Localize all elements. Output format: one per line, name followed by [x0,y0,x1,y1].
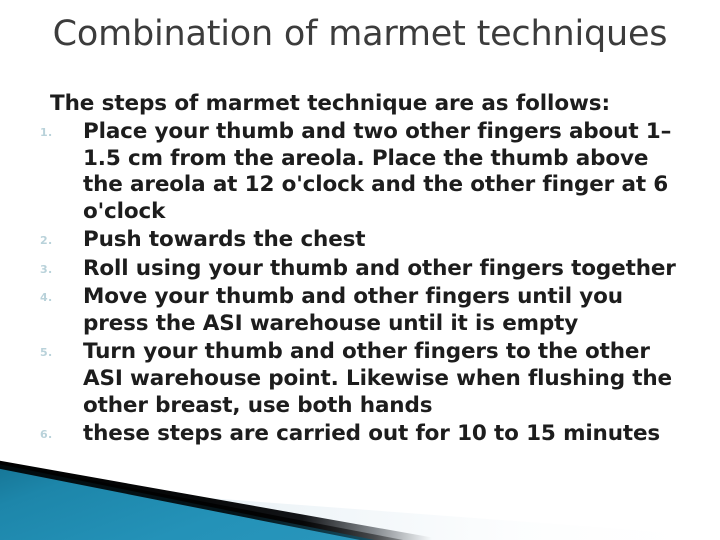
intro-line: The steps of marmet technique are as fol… [0,90,720,117]
list-item-label: these steps are carried out for 10 to 15… [83,421,690,448]
decoration-dark-band-shape [0,450,720,540]
list-item-label: Roll using your thumb and other fingers … [83,256,690,283]
list-item: 6. these steps are carried out for 10 to… [0,421,720,448]
slide: Combination of marmet techniques The ste… [0,0,720,540]
list-item-marker: 3. [40,263,66,277]
list-item-label: Turn your thumb and other fingers to the… [83,339,690,419]
slide-body: The steps of marmet technique are as fol… [0,90,720,450]
list-item: 1. Place your thumb and two other finger… [0,119,720,225]
list-item: 4. Move your thumb and other fingers unt… [0,284,720,337]
decoration-edge-line-shape [0,450,720,540]
list-item: 3. Roll using your thumb and other finge… [0,256,720,283]
steps-list: 1. Place your thumb and two other finger… [0,119,720,448]
list-item: 2. Push towards the chest [0,227,720,254]
page-title: Combination of marmet techniques [0,14,720,54]
list-item-label: Move your thumb and other fingers until … [83,284,690,337]
list-item-marker: 1. [40,126,66,140]
footer-decoration [0,450,720,540]
list-item-marker: 2. [40,234,66,248]
list-item-marker: 4. [40,291,66,305]
list-item-label: Place your thumb and two other fingers a… [83,119,690,225]
decoration-haze-shape [0,450,720,540]
list-item-marker: 5. [40,346,66,360]
list-item-label: Push towards the chest [83,227,690,254]
list-item: 5. Turn your thumb and other fingers to … [0,339,720,419]
list-item-marker: 6. [40,428,66,442]
decoration-teal-wedge-shape [0,450,720,540]
